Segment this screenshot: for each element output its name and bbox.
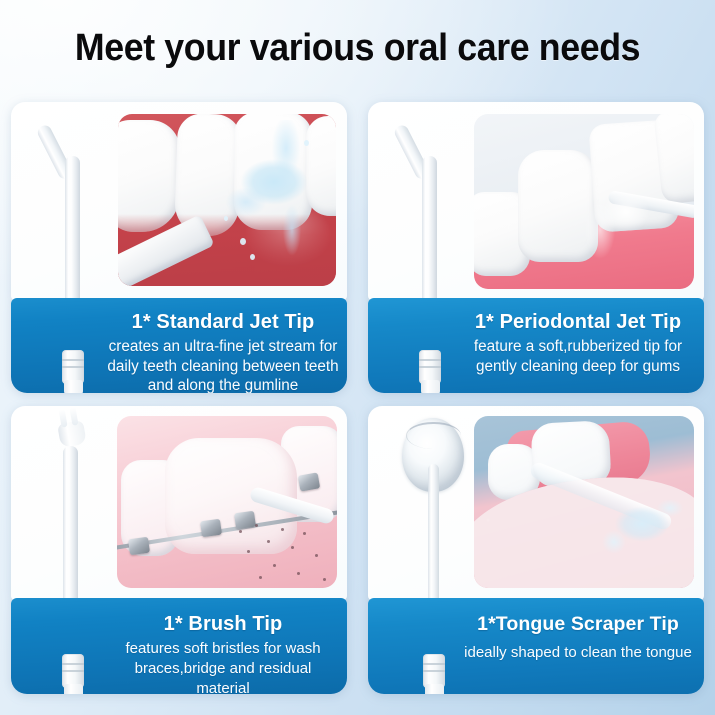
tongue-cleaning-photo	[474, 416, 694, 588]
droplet	[224, 216, 228, 221]
tip-shaft-shape	[428, 464, 439, 600]
product-card-brush-tip[interactable]: 1* Brush Tip features soft bristles for …	[11, 406, 347, 694]
card-text-block: 1* Standard Jet Tip creates an ultra-fin…	[107, 310, 339, 393]
molars-gums-photo	[474, 114, 694, 289]
standard-jet-tip-icon	[31, 112, 117, 300]
scraper-head-shape	[402, 418, 464, 492]
card-text-block: 1*Tongue Scraper Tip ideally shaped to c…	[458, 612, 698, 663]
card-description: feature a soft,rubberized tip for gently…	[458, 337, 698, 376]
droplet	[304, 140, 309, 146]
card-description: creates an ultra-fine jet stream for dai…	[107, 337, 339, 393]
card-description: features soft bristles for wash braces,b…	[107, 639, 339, 694]
product-card-grid: 1* Standard Jet Tip creates an ultra-fin…	[11, 102, 704, 694]
water-spray-shape	[596, 494, 688, 562]
brush-tip-icon	[31, 416, 117, 600]
teeth-water-jet-photo	[118, 114, 336, 286]
periodontal-jet-tip-icon	[388, 112, 474, 300]
card-title: 1* Brush Tip	[107, 612, 339, 636]
droplet	[240, 238, 246, 245]
braces-bracket-shape	[128, 537, 150, 556]
card-photo-area	[11, 102, 347, 300]
tip-bend-shape	[35, 123, 74, 181]
product-card-tongue-scraper-tip[interactable]: 1*Tongue Scraper Tip ideally shaped to c…	[368, 406, 704, 694]
card-description: ideally shaped to clean the tongue	[458, 643, 698, 663]
card-photo-area	[368, 102, 704, 300]
card-title: 1* Periodontal Jet Tip	[458, 310, 698, 334]
card-text-block: 1* Brush Tip features soft bristles for …	[107, 612, 339, 694]
card-caption-band: 1* Brush Tip features soft bristles for …	[11, 598, 347, 694]
tip-shaft-shape	[63, 446, 78, 600]
braces-bracket-shape	[298, 472, 320, 491]
card-title: 1* Standard Jet Tip	[107, 310, 339, 334]
product-card-periodontal-jet-tip[interactable]: 1* Periodontal Jet Tip feature a soft,ru…	[368, 102, 704, 393]
braces-cleaning-photo	[117, 416, 337, 588]
page-title: Meet your various oral care needs	[21, 26, 693, 70]
tip-bend-shape	[392, 123, 431, 181]
card-text-block: 1* Periodontal Jet Tip feature a soft,ru…	[458, 310, 698, 376]
card-photo-area	[11, 406, 347, 600]
water-spray-shape	[216, 120, 326, 270]
card-photo-area	[368, 406, 704, 600]
card-title: 1*Tongue Scraper Tip	[458, 612, 698, 636]
bristle-shape	[69, 407, 78, 426]
card-caption-band: 1* Standard Jet Tip creates an ultra-fin…	[11, 298, 347, 393]
braces-bracket-shape	[200, 519, 222, 538]
droplet	[250, 254, 255, 260]
debris-particles	[233, 520, 333, 588]
tongue-scraper-tip-icon	[388, 416, 474, 600]
product-card-standard-jet-tip[interactable]: 1* Standard Jet Tip creates an ultra-fin…	[11, 102, 347, 393]
brush-head-shape	[57, 420, 87, 448]
bristle-shape	[59, 409, 68, 428]
card-caption-band: 1* Periodontal Jet Tip feature a soft,ru…	[368, 298, 704, 393]
card-caption-band: 1*Tongue Scraper Tip ideally shaped to c…	[368, 598, 704, 694]
water-spray-shape	[582, 172, 668, 268]
tip-shaft-shape	[422, 156, 437, 300]
tip-shaft-shape	[65, 156, 80, 300]
